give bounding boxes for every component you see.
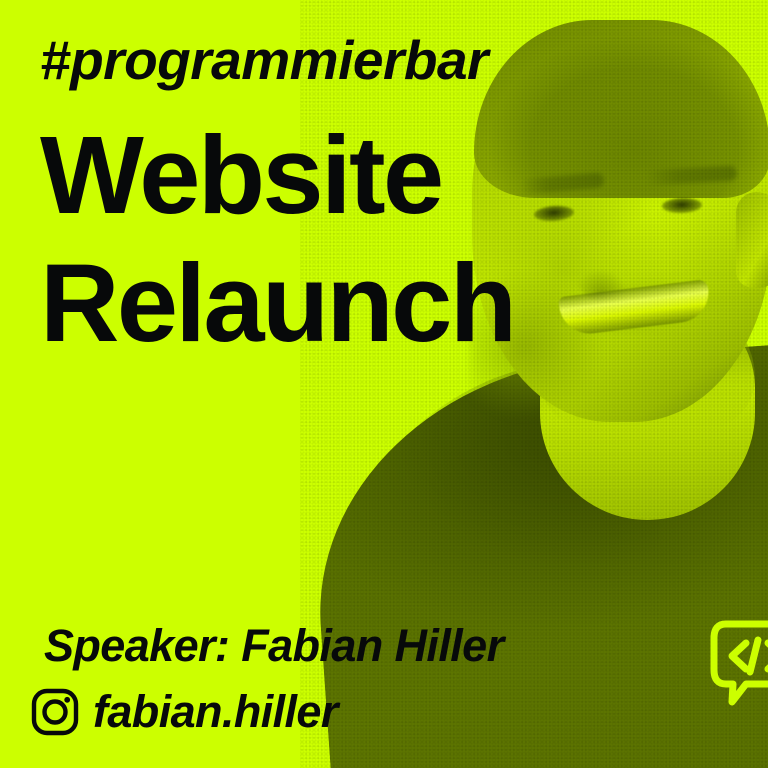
podcast-announcement-poster: #programmierbar Website Relaunch Speaker… — [0, 0, 768, 768]
instagram-icon — [30, 687, 80, 737]
hashtag-label: #programmierbar — [40, 28, 488, 92]
ear-shape — [736, 192, 768, 288]
headline-line-1: Website — [40, 112, 514, 240]
page-title: Website Relaunch — [40, 112, 514, 367]
instagram-handle-row: fabian.hiller — [30, 686, 338, 738]
instagram-handle-text: fabian.hiller — [93, 686, 338, 738]
programmierbar-shirt-logo — [706, 616, 768, 708]
headline-line-2: Relaunch — [40, 240, 514, 368]
speaker-name-label: Speaker: Fabian Hiller — [44, 620, 503, 672]
